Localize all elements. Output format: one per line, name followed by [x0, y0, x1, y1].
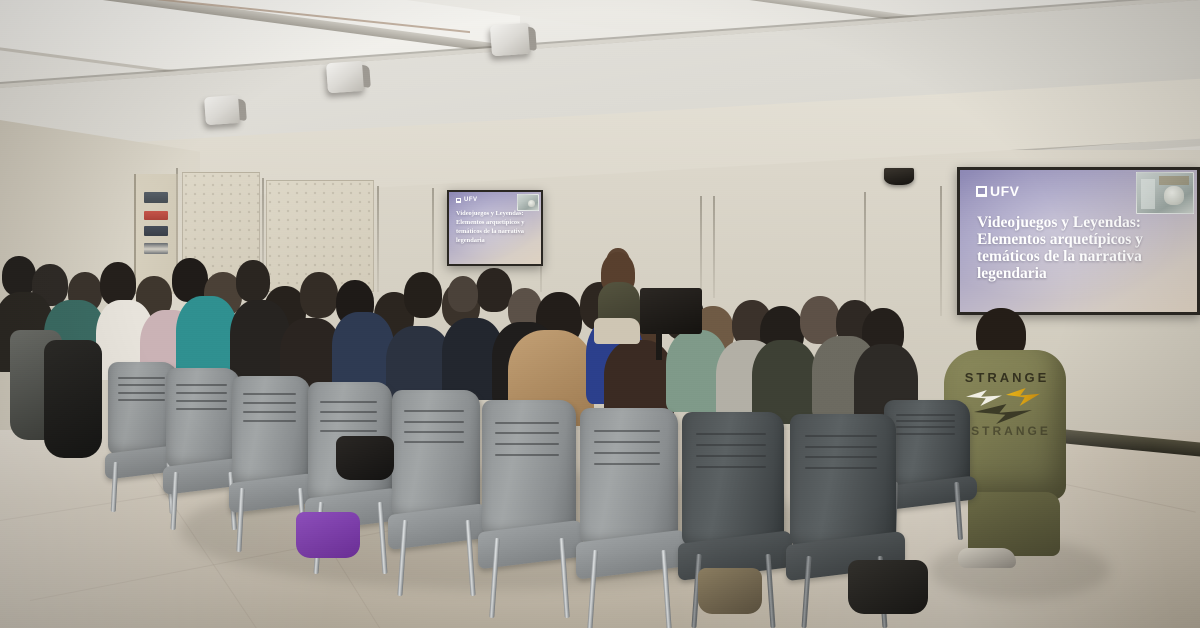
wall-speaker-2 [326, 61, 366, 94]
strange-jacket-legs [968, 492, 1060, 556]
audience-head [236, 260, 270, 302]
slide-title-line-1: Videojuegos y Leyendas: [977, 215, 1141, 231]
bag-on-floor [336, 436, 394, 480]
wall-seam-8 [864, 192, 866, 312]
chair-slots [495, 422, 559, 476]
wall-sign-3 [144, 226, 168, 236]
webcam-thumbnail-secondary [517, 194, 539, 211]
audience-head [2, 256, 36, 296]
chair-slots [696, 433, 765, 487]
ufv-logo-text: UFV [990, 183, 1020, 199]
ufv-logo-text-secondary: UFV [464, 197, 478, 203]
audience-head [300, 272, 338, 318]
wall-sign-1 [144, 192, 168, 203]
secondary-slide-line-2: Elementos arquetípicos y [456, 220, 524, 226]
stage-equipment [640, 288, 702, 334]
webcam-person-secondary [528, 200, 535, 207]
chair-backrest [232, 376, 310, 485]
wall-speaker-3 [490, 23, 532, 57]
wall-speaker-1 [204, 95, 242, 125]
chair-backrest [682, 412, 784, 546]
secondary-slide-line-1: Videojuegos y Leyendas: [456, 211, 524, 217]
chair-slots [594, 430, 661, 485]
wall-sign-4 [144, 243, 168, 254]
stacking-chair[interactable] [482, 400, 576, 618]
secondary-slide-line-3: temáticos de la narrativa [456, 229, 524, 235]
slide-title-line-4: legendaria [977, 266, 1047, 282]
wall-seam-7 [713, 196, 715, 298]
stacking-chair[interactable] [884, 400, 970, 540]
strange-jacket-text-lower: STRANGE [966, 424, 1056, 438]
chair-backrest [482, 400, 576, 535]
main-projection-screen: UFV Videojuegos y Leyendas: Elementos ar… [957, 167, 1200, 315]
ufv-mark-icon-secondary [456, 198, 461, 203]
backpack-on-floor [848, 560, 928, 614]
backpack-on-floor [698, 568, 762, 614]
shoe [958, 548, 1016, 568]
ceiling-camera [884, 168, 914, 185]
chair-slots [243, 393, 296, 437]
chair-backrest [580, 408, 678, 544]
lecture-room-photo: UFV Videojuegos y Leyendas: Elementos ar… [0, 0, 1200, 628]
audience-head [448, 276, 478, 312]
chair-backrest [392, 390, 480, 518]
audience-head [476, 268, 512, 312]
backpack-on-chair [44, 340, 102, 458]
wall-seam-9 [940, 186, 942, 316]
strange-jacket-text: STRANGE [962, 370, 1052, 385]
secondary-screen-surface: UFV Videojuegos y Leyendas: Elementos ar… [449, 192, 541, 264]
secondary-slide-line-4: legendaria [456, 238, 485, 244]
ufv-logo-secondary: UFV [456, 197, 478, 203]
chair-slots [118, 377, 166, 414]
stacking-chair[interactable] [392, 390, 480, 596]
secondary-projection-screen: UFV Videojuegos y Leyendas: Elementos ar… [447, 190, 543, 266]
purple-bag [296, 512, 360, 558]
webcam-person [1164, 186, 1184, 205]
webcam-thumbnail [1136, 172, 1194, 214]
chair-backrest [790, 414, 896, 547]
wall-seam-6 [700, 196, 702, 298]
chair-backrest [884, 400, 970, 487]
audience-head [404, 272, 442, 318]
slide-title-line-2: Elementos arquetípicos y [977, 232, 1143, 248]
chair-slots [896, 414, 954, 449]
wall-sign-2 [144, 211, 168, 220]
presenter-lap [594, 318, 640, 344]
stage-equipment-leg [656, 330, 662, 360]
audience-torso [332, 312, 394, 392]
stacking-chair[interactable] [580, 408, 678, 628]
slide-title-line-3: temáticos de la narrativa [977, 249, 1142, 265]
chair-slots [404, 410, 464, 461]
chair-slots [805, 435, 877, 488]
chair-backrest [166, 368, 240, 468]
main-screen-surface: UFV Videojuegos y Leyendas: Elementos ar… [960, 170, 1197, 312]
wall-seam-3 [377, 186, 379, 292]
chair-slots [176, 384, 226, 424]
ufv-mark-icon [976, 186, 987, 197]
ufv-logo-main: UFV [976, 183, 1020, 199]
